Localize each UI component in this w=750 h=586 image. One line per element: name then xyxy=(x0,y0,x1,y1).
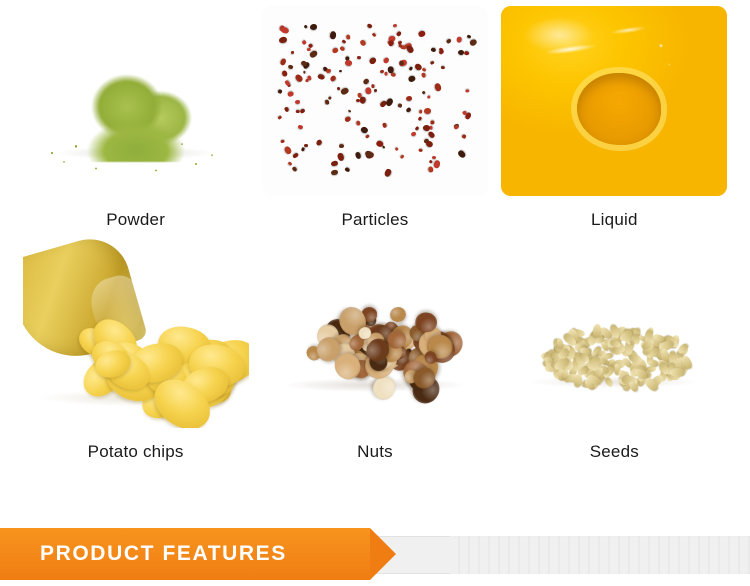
product-caption-seeds: Seeds xyxy=(499,442,730,462)
product-image-card-potato-chips[interactable] xyxy=(23,238,249,428)
product-gallery-grid: Powder Particles Liquid xyxy=(0,0,750,470)
particle-scatter xyxy=(262,6,488,196)
product-caption-powder: Powder xyxy=(20,210,251,230)
product-image-card-seeds[interactable] xyxy=(501,238,727,428)
product-image-card-particles[interactable] xyxy=(262,6,488,196)
melon-seeds-pile-photo xyxy=(501,238,727,428)
product-features-banner: PRODUCT FEATURES xyxy=(0,524,750,586)
product-image-card-nuts[interactable] xyxy=(262,238,488,428)
seeds-pile xyxy=(501,238,727,428)
product-features-page: Powder Particles Liquid xyxy=(0,0,750,586)
gallery-cell-particles: Particles xyxy=(259,6,490,238)
product-image-card-powder[interactable] xyxy=(23,6,249,196)
banner-stripe-pattern xyxy=(450,536,750,574)
banner-orange-ribbon: PRODUCT FEATURES xyxy=(0,528,370,580)
chips-pile xyxy=(23,238,249,428)
mixed-nuts-pile-photo xyxy=(262,238,488,428)
gallery-cell-potato-chips: Potato chips xyxy=(20,238,251,470)
potato-chips-bag-photo xyxy=(23,238,249,428)
gallery-cell-seeds: Seeds xyxy=(499,238,730,470)
product-caption-potato-chips: Potato chips xyxy=(20,442,251,462)
liquid-splash-droplets xyxy=(544,18,675,124)
yellow-liquid-splash-photo xyxy=(501,6,727,196)
nuts-pile xyxy=(262,238,488,428)
gallery-cell-powder: Powder xyxy=(20,6,251,238)
banner-title: PRODUCT FEATURES xyxy=(40,542,287,566)
red-peppercorn-particles-photo xyxy=(262,6,488,196)
green-powder-heap-photo xyxy=(23,6,249,196)
product-caption-particles: Particles xyxy=(259,210,490,230)
gallery-cell-nuts: Nuts xyxy=(259,238,490,470)
product-image-card-liquid[interactable] xyxy=(501,6,727,196)
product-caption-liquid: Liquid xyxy=(499,210,730,230)
powder-heap xyxy=(61,70,211,162)
product-caption-nuts: Nuts xyxy=(259,442,490,462)
gallery-cell-liquid: Liquid xyxy=(499,6,730,238)
